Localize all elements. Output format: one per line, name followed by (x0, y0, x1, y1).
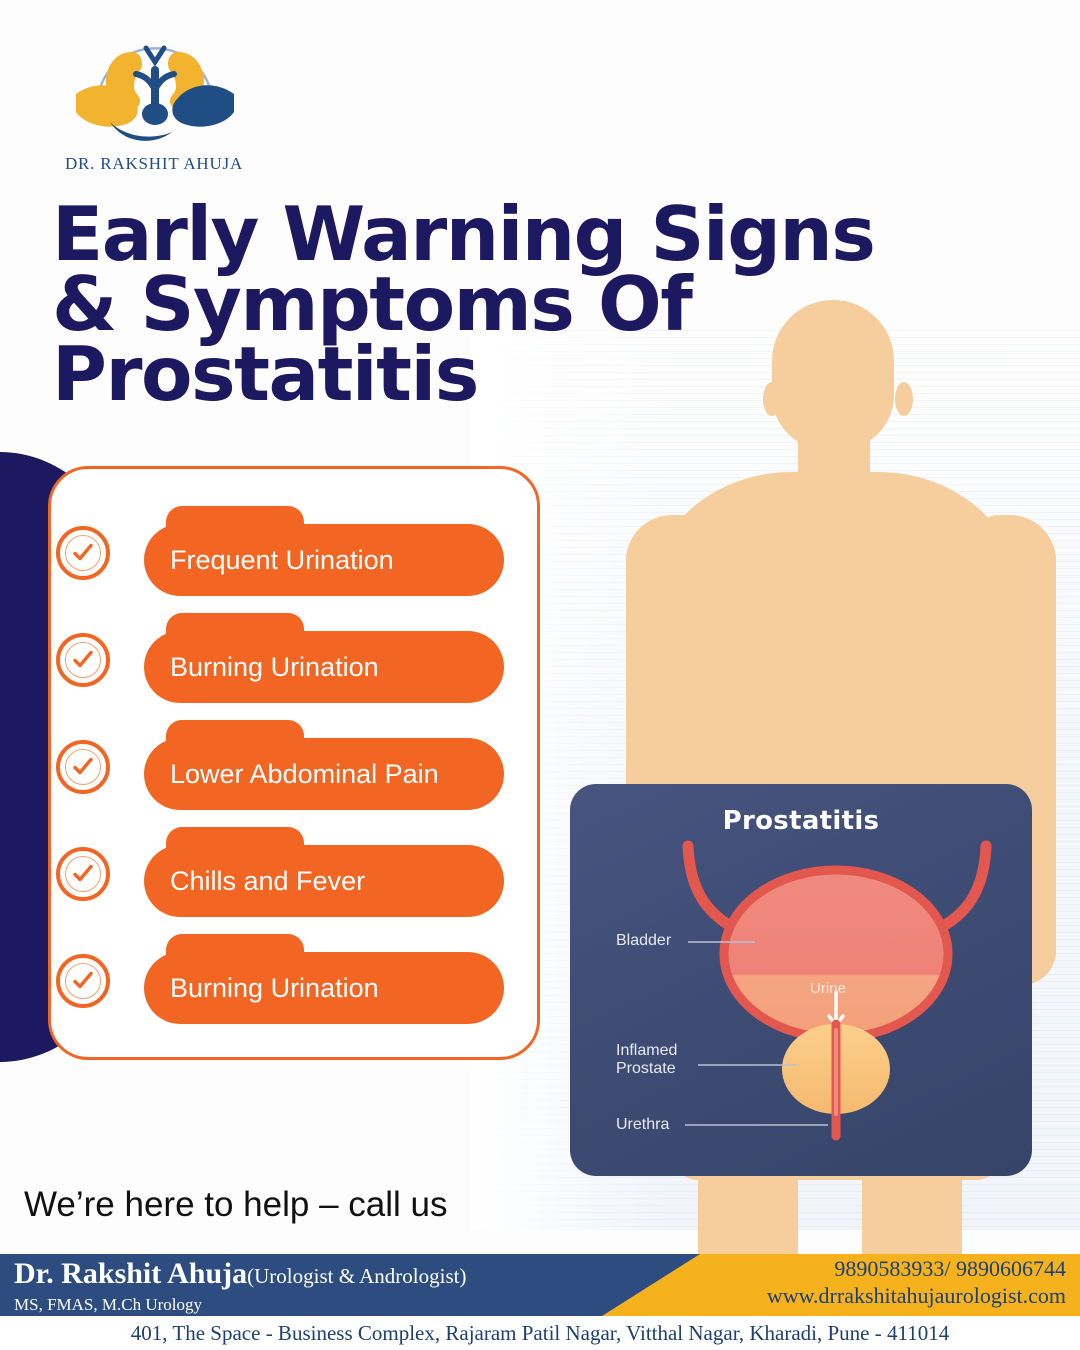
pill-body: Burning Urination (144, 631, 504, 703)
symptom-pill[interactable]: Lower Abdominal Pain (144, 720, 504, 816)
symptom-label: Lower Abdominal Pain (144, 759, 439, 790)
list-item[interactable]: Frequent Urination (48, 500, 548, 607)
clinic-logo: DR. RAKSHIT AHUJA (44, 26, 264, 186)
check-circle-icon (56, 633, 110, 687)
label-bladder: Bladder (616, 932, 671, 950)
call-to-action-text: We’re here to help – call us (24, 1185, 447, 1225)
symptom-label: Chills and Fever (144, 866, 365, 897)
poster-canvas: DR. RAKSHIT AHUJA Early Warning Signs & … (0, 0, 1080, 1350)
symptom-label: Burning Urination (144, 973, 379, 1004)
footer-phone[interactable]: 9890583933/ 9890606744 (834, 1256, 1066, 1282)
footer-navy-band: Dr. Rakshit Ahuja(Urologist & Andrologis… (0, 1254, 700, 1316)
symptom-pill[interactable]: Chills and Fever (144, 827, 504, 923)
footer-doctor-name: Dr. Rakshit Ahuja(Urologist & Andrologis… (14, 1257, 466, 1291)
list-item[interactable]: Lower Abdominal Pain (48, 714, 548, 821)
symptom-pill[interactable]: Frequent Urination (144, 506, 504, 602)
footer-address: 401, The Space - Business Complex, Rajar… (0, 1316, 1080, 1350)
label-urine: Urine (810, 980, 846, 997)
kidneys-in-hands-icon (70, 26, 240, 148)
label-urethra: Urethra (616, 1116, 669, 1134)
list-item[interactable]: Burning Urination (48, 607, 548, 714)
doctor-name-text: Dr. Rakshit Ahuja (14, 1257, 247, 1290)
symptom-label: Frequent Urination (144, 545, 394, 576)
check-circle-icon (56, 740, 110, 794)
pill-body: Chills and Fever (144, 845, 504, 917)
pill-body: Frequent Urination (144, 524, 504, 596)
check-circle-icon (56, 954, 110, 1008)
symptom-label: Burning Urination (144, 652, 379, 683)
page-title: Early Warning Signs & Symptoms Of Prosta… (52, 200, 932, 409)
footer-website[interactable]: www.drrakshitahujaurologist.com (767, 1283, 1066, 1309)
list-item[interactable]: Chills and Fever (48, 821, 548, 928)
pill-body: Burning Urination (144, 952, 504, 1024)
check-circle-icon (56, 847, 110, 901)
doctor-specialty-text: (Urologist & Andrologist) (247, 1264, 466, 1288)
footer-credentials: MS, FMAS, M.Ch Urology (14, 1295, 202, 1315)
pill-body: Lower Abdominal Pain (144, 738, 504, 810)
label-inflamed-prostate: Inflamed Prostate (616, 1042, 677, 1078)
check-circle-icon (56, 526, 110, 580)
logo-wordmark: DR. RAKSHIT AHUJA (44, 154, 264, 174)
symptom-pill[interactable]: Burning Urination (144, 934, 504, 1030)
prostatitis-diagram-card: Prostatitis (570, 784, 1032, 1176)
list-item[interactable]: Burning Urination (48, 928, 548, 1035)
footer: 9890583933/ 9890606744 www.drrakshitahuj… (0, 1254, 1080, 1350)
symptom-pill[interactable]: Burning Urination (144, 613, 504, 709)
symptoms-list: Frequent Urination Burning Urination (48, 500, 548, 1035)
